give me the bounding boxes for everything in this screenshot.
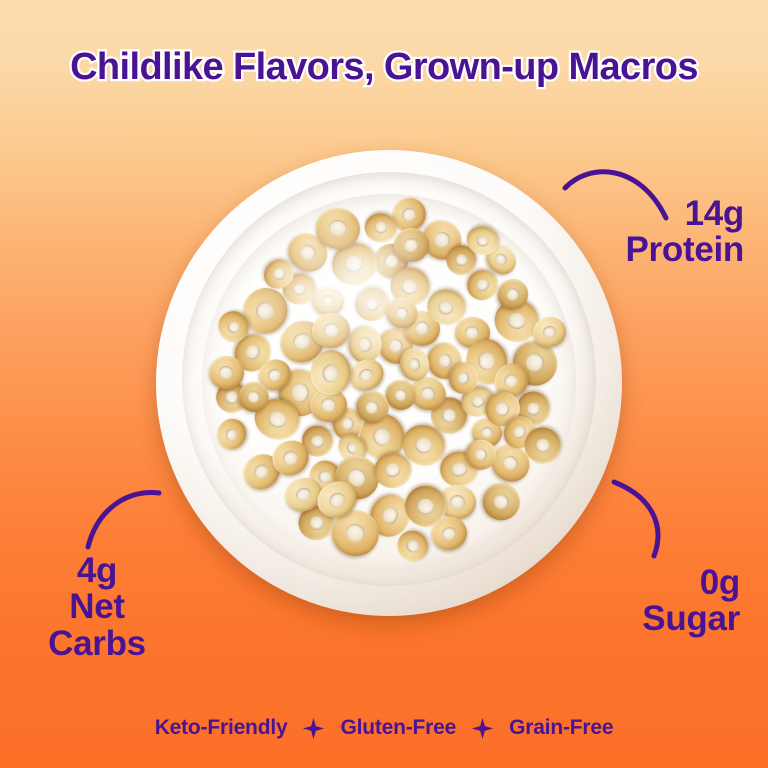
callout-net-carbs-value: 4g <box>22 553 172 589</box>
sparkle-icon <box>472 717 493 738</box>
callout-net-carbs-label-1: Net <box>22 589 172 625</box>
badge-gluten-free: Gluten-Free <box>340 716 456 740</box>
carbs-arc-icon <box>80 485 162 551</box>
callout-protein-value: 14g <box>626 196 744 232</box>
cereal-ring <box>211 414 250 454</box>
milk-surface <box>202 194 576 568</box>
callout-sugar-label: Sugar <box>642 601 740 637</box>
cereal-ring <box>344 354 389 397</box>
sparkle-icon <box>303 717 324 738</box>
callout-sugar-value: 0g <box>642 565 740 601</box>
callout-net-carbs: 4g Net Carbs <box>22 553 172 662</box>
badge-grain-free: Grain-Free <box>509 716 613 740</box>
page-title: Childlike Flavors, Grown-up Macros <box>0 46 768 89</box>
cereal-ring <box>349 326 382 363</box>
callout-sugar: 0g Sugar <box>642 565 740 638</box>
cereal-bowl-image <box>156 150 622 616</box>
callout-net-carbs-label-2: Carbs <box>22 626 172 662</box>
sugar-arc-icon <box>610 478 672 560</box>
callout-protein: 14g Protein <box>626 196 744 269</box>
badge-keto-friendly: Keto-Friendly <box>155 716 288 740</box>
claims-row: Keto-Friendly Gluten-Free Grain-Free <box>0 716 768 740</box>
callout-protein-label: Protein <box>626 232 744 268</box>
ad-creative: Childlike Flavors, Grown-up Macros 14g P… <box>0 0 768 768</box>
